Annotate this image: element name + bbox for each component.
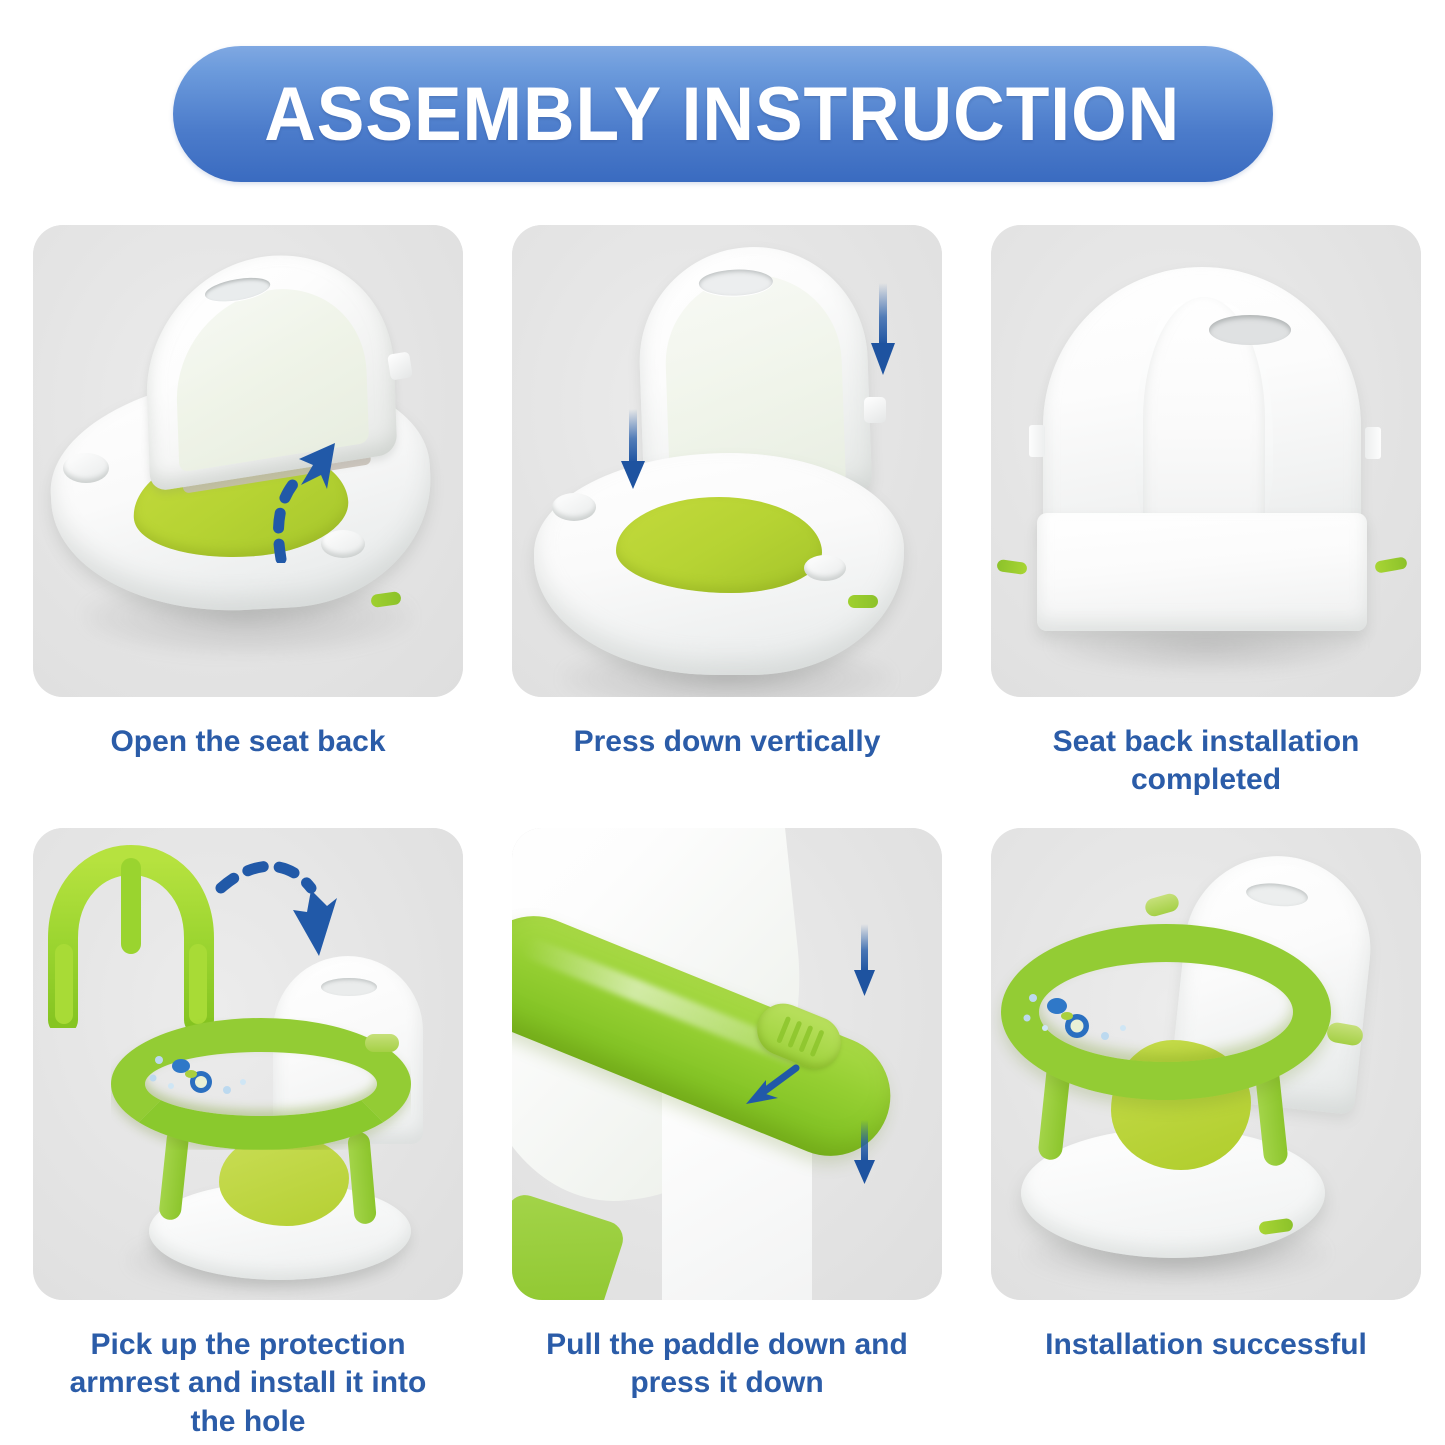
backrest-hole [1209, 315, 1291, 345]
step-5: Pull the paddle down and press it down [512, 828, 942, 1441]
armrest-slider-button-left [1143, 891, 1181, 918]
armrest-lower-section [512, 1190, 628, 1300]
lion-decal-icon [147, 1052, 265, 1105]
assembly-instruction-page: ASSEMBLY INSTRUCTION [0, 0, 1445, 1445]
header-pill: ASSEMBLY INSTRUCTION [173, 46, 1273, 182]
seat-back-rear-view-illustration [991, 225, 1421, 697]
backrest-hole [321, 978, 377, 996]
backrest-hole [1245, 880, 1309, 908]
green-release-tab-left [996, 559, 1027, 575]
slider-rib [810, 1029, 825, 1057]
green-release-tab-right [1374, 556, 1408, 573]
step-5-caption: Pull the paddle down and press it down [512, 1326, 942, 1403]
step-3: Seat back installation completed [991, 225, 1421, 800]
down-arrow-icon [620, 409, 646, 489]
step-6: Installation successful [991, 828, 1421, 1441]
side-latch [864, 397, 886, 423]
side-latch [387, 351, 413, 380]
step-1-caption: Open the seat back [33, 723, 463, 761]
bath-seat-backrest-upright-illustration [512, 225, 942, 697]
armrest-installation-illustration [33, 828, 463, 1300]
armrest-slider-button [365, 1034, 399, 1052]
bath-seat-backrest-open-illustration [33, 225, 463, 697]
step-1: Open the seat back [33, 225, 463, 800]
step-2: Press down vertically [512, 225, 942, 800]
steps-grid: Open the seat back [33, 225, 1421, 1441]
step-3-caption: Seat back installation completed [991, 723, 1421, 800]
step-1-photo [33, 225, 463, 697]
step-4-caption: Pick up the protection armrest and insta… [33, 1326, 463, 1441]
lion-decal-icon [1019, 988, 1149, 1053]
step-6-photo [991, 828, 1421, 1300]
side-peg-right [1365, 427, 1381, 459]
armrest-paddle-closeup-illustration [512, 828, 942, 1300]
step-3-photo [991, 225, 1421, 697]
assembled-bath-seat-illustration [991, 828, 1421, 1300]
seat-base-rear [1037, 513, 1367, 631]
small-arrow-down-left-icon [740, 1064, 800, 1112]
backrest-center-panel [1143, 297, 1265, 543]
backrest-shell [1043, 267, 1361, 545]
step-6-caption: Installation successful [991, 1326, 1421, 1364]
step-4-photo [33, 828, 463, 1300]
down-arrow-icon [852, 1120, 878, 1184]
seat-with-armrest-assembly [103, 956, 463, 1286]
green-release-tab [848, 595, 878, 608]
step-2-caption: Press down vertically [512, 723, 942, 761]
suction-knob-left [63, 453, 109, 483]
dashed-curved-arrow-up-icon [239, 413, 359, 563]
step-2-photo [512, 225, 942, 697]
suction-knob-left [552, 493, 596, 521]
header: ASSEMBLY INSTRUCTION [0, 46, 1445, 182]
down-arrow-icon [870, 283, 896, 375]
step-5-photo [512, 828, 942, 1300]
down-arrow-icon [852, 924, 878, 996]
side-peg-left [1029, 425, 1045, 457]
suction-knob-right [804, 555, 846, 581]
step-4: Pick up the protection armrest and insta… [33, 828, 463, 1441]
page-title: ASSEMBLY INSTRUCTION [265, 71, 1181, 158]
